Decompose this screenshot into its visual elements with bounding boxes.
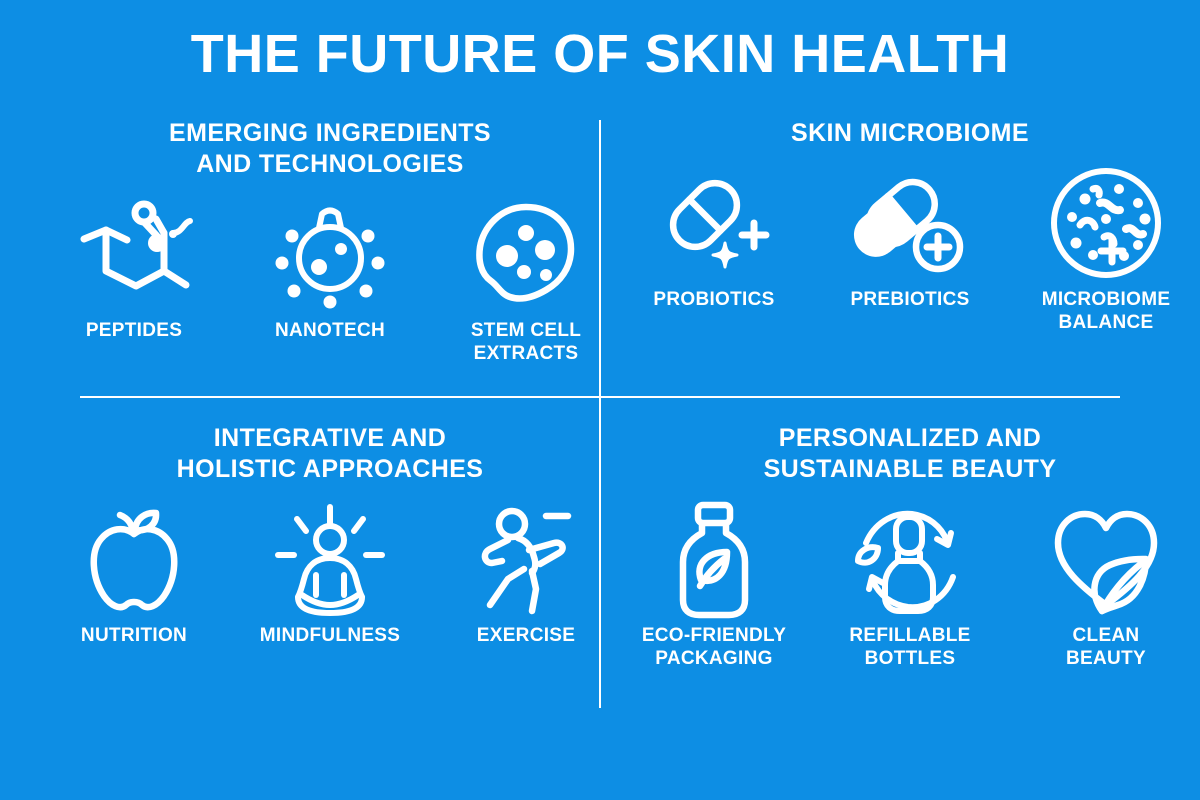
quadrant-title: EMERGING INGREDIENTS AND TECHNOLOGIES <box>169 118 491 180</box>
quadrant-title: SKIN MICROBIOME <box>791 118 1029 149</box>
quadrant-title: INTEGRATIVE AND HOLISTIC APPROACHES <box>177 423 484 485</box>
quadrant-title: PERSONALIZED AND SUSTAINABLE BEAUTY <box>764 423 1057 485</box>
item-mindfulness[interactable]: MINDFULNESS <box>246 505 414 648</box>
item-eco-friendly-packaging[interactable]: ECO-FRIENDLY PACKAGING <box>630 505 798 671</box>
page-title: THE FUTURE OF SKIN HEALTH <box>0 26 1200 83</box>
item-label: MINDFULNESS <box>260 625 401 648</box>
item-nanotech[interactable]: NANOTECH <box>246 198 414 343</box>
item-refillable-bottles[interactable]: REFILLABLE BOTTLES <box>826 505 994 671</box>
capsule-sparkle-icon <box>655 167 773 279</box>
stem-cell-icon <box>467 198 585 310</box>
item-label: EXERCISE <box>477 625 576 648</box>
item-label: ECO-FRIENDLY PACKAGING <box>642 625 786 671</box>
infographic-poster: THE FUTURE OF SKIN HEALTH EMERGING INGRE… <box>0 0 1200 800</box>
item-list: NUTRITION <box>50 505 610 648</box>
item-list: PEPTIDES <box>50 198 610 366</box>
item-label: PROBIOTICS <box>653 289 774 312</box>
item-label: REFILLABLE BOTTLES <box>849 625 970 671</box>
peptide-molecule-icon <box>75 198 193 310</box>
item-label: NUTRITION <box>81 625 187 648</box>
item-peptides[interactable]: PEPTIDES <box>50 198 218 343</box>
item-list: PROBIOTICS <box>630 167 1190 335</box>
capsule-plus-icon <box>851 167 969 279</box>
quadrant-skin-microbiome: SKIN MICROBIOME <box>620 112 1200 417</box>
item-label: PEPTIDES <box>86 320 182 343</box>
item-clean-beauty[interactable]: CLEAN BEAUTY <box>1022 505 1190 671</box>
item-list: ECO-FRIENDLY PACKAGING <box>630 505 1190 671</box>
apple-icon <box>75 505 193 615</box>
item-probiotics[interactable]: PROBIOTICS <box>630 167 798 312</box>
quadrant-emerging-ingredients: EMERGING INGREDIENTS AND TECHNOLOGIES <box>40 112 620 417</box>
running-person-icon <box>467 505 585 615</box>
item-nutrition[interactable]: NUTRITION <box>50 505 218 648</box>
refill-arrows-bottle-icon <box>851 505 969 615</box>
item-label: MICROBIOME BALANCE <box>1042 289 1171 335</box>
item-microbiome-balance[interactable]: MICROBIOME BALANCE <box>1022 167 1190 335</box>
item-label: STEM CELL EXTRACTS <box>471 320 581 366</box>
nanoparticle-icon <box>271 198 389 310</box>
bottle-leaf-icon <box>655 505 773 615</box>
item-label: NANOTECH <box>275 320 385 343</box>
heart-leaf-icon <box>1047 505 1165 615</box>
meditation-lotus-icon <box>271 505 389 615</box>
quadrant-grid: EMERGING INGREDIENTS AND TECHNOLOGIES <box>40 112 1160 722</box>
item-label: CLEAN BEAUTY <box>1066 625 1146 671</box>
item-label: PREBIOTICS <box>850 289 969 312</box>
item-exercise[interactable]: EXERCISE <box>442 505 610 648</box>
petri-dish-bacteria-icon <box>1047 167 1165 279</box>
quadrant-personalized-sustainable: PERSONALIZED AND SUSTAINABLE BEAUTY <box>620 417 1200 722</box>
quadrant-integrative-holistic: INTEGRATIVE AND HOLISTIC APPROACHES <box>40 417 620 722</box>
item-stem-cell-extracts[interactable]: STEM CELL EXTRACTS <box>442 198 610 366</box>
item-prebiotics[interactable]: PREBIOTICS <box>826 167 994 312</box>
